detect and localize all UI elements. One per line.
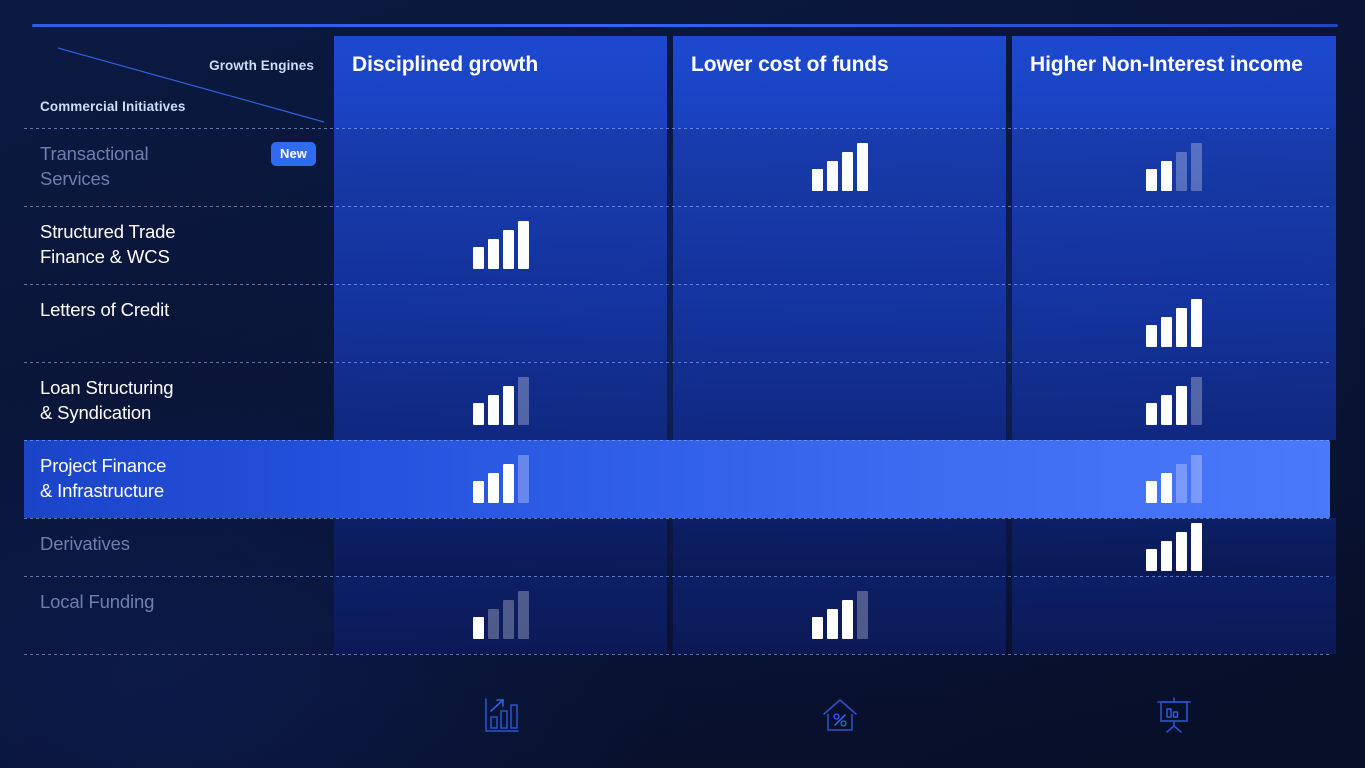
rating-bar bbox=[488, 239, 499, 269]
rating-bar bbox=[1191, 377, 1202, 425]
row-label-text: Structured Trade Finance & WCS bbox=[40, 220, 175, 269]
matrix-axis-corner: Growth Engines Commercial Initiatives bbox=[24, 36, 328, 128]
rating-bar bbox=[1176, 386, 1187, 425]
matrix-cell-derivatives-disciplined-growth[interactable] bbox=[334, 518, 667, 576]
matrix-cell-derivatives-lower-cost-of-funds[interactable] bbox=[673, 518, 1006, 576]
rating-bar bbox=[1191, 455, 1202, 503]
row-separator bbox=[24, 654, 1330, 655]
footer-icon-cell-higher-non-interest-income bbox=[1012, 684, 1336, 746]
rating-bar bbox=[857, 591, 868, 639]
matrix-cell-loan-structuring-syndication-disciplined-growth[interactable] bbox=[334, 362, 667, 440]
matrix-cell-project-finance-infrastructure-lower-cost-of-funds[interactable] bbox=[673, 440, 1006, 518]
rating-bar bbox=[1161, 473, 1172, 503]
rating-bar bbox=[473, 617, 484, 639]
matrix-cell-local-funding-higher-non-interest-income[interactable] bbox=[1012, 576, 1336, 654]
top-accent-rule bbox=[32, 24, 1338, 27]
new-badge: New bbox=[271, 142, 316, 166]
matrix-cell-transactional-services-lower-cost-of-funds[interactable] bbox=[673, 128, 1006, 206]
rating-bar bbox=[1146, 325, 1157, 347]
rating-bar bbox=[857, 143, 868, 191]
slide-canvas: Growth Engines Commercial Initiatives Di… bbox=[0, 0, 1365, 768]
matrix-cell-loan-structuring-syndication-lower-cost-of-funds[interactable] bbox=[673, 362, 1006, 440]
rating-bar bbox=[1146, 403, 1157, 425]
rating-bars bbox=[1146, 377, 1202, 425]
presentation-chart-icon bbox=[1154, 695, 1194, 735]
matrix-cell-local-funding-disciplined-growth[interactable] bbox=[334, 576, 667, 654]
house-percent-icon bbox=[820, 695, 860, 735]
row-label-text: Loan Structuring & Syndication bbox=[40, 376, 173, 425]
row-label-loan-structuring-syndication[interactable]: Loan Structuring & Syndication bbox=[24, 362, 328, 440]
matrix-cell-project-finance-infrastructure-higher-non-interest-income[interactable] bbox=[1012, 440, 1336, 518]
row-label-derivatives[interactable]: Derivatives bbox=[24, 518, 328, 576]
footer-icon-strip bbox=[24, 684, 1330, 746]
column-header-disciplined-growth[interactable]: Disciplined growth bbox=[334, 36, 667, 128]
row-label-text: Derivatives bbox=[40, 532, 130, 557]
footer-icon-cell-disciplined-growth bbox=[334, 684, 667, 746]
rating-bar bbox=[473, 247, 484, 269]
rating-bars bbox=[473, 455, 529, 503]
growth-chart-arrow-icon bbox=[481, 695, 521, 735]
rating-bar bbox=[1191, 299, 1202, 347]
matrix-cell-letters-of-credit-higher-non-interest-income[interactable] bbox=[1012, 284, 1336, 362]
rating-bar bbox=[473, 481, 484, 503]
rating-bar bbox=[1146, 169, 1157, 191]
row-label-letters-of-credit[interactable]: Letters of Credit bbox=[24, 284, 328, 362]
row-label-text: Letters of Credit bbox=[40, 298, 169, 323]
rating-bar bbox=[827, 161, 838, 191]
matrix-cell-structured-trade-finance-wcs-higher-non-interest-income[interactable] bbox=[1012, 206, 1336, 284]
rating-bars bbox=[473, 591, 529, 639]
rating-bar bbox=[518, 455, 529, 503]
rating-bar bbox=[518, 221, 529, 269]
row-label-transactional-services[interactable]: Transactional ServicesNew bbox=[24, 128, 328, 206]
rating-bars bbox=[1146, 455, 1202, 503]
rating-bar bbox=[518, 377, 529, 425]
rating-bar bbox=[1146, 549, 1157, 571]
row-label-structured-trade-finance-wcs[interactable]: Structured Trade Finance & WCS bbox=[24, 206, 328, 284]
rating-bar bbox=[812, 169, 823, 191]
rating-bar bbox=[518, 591, 529, 639]
footer-icon-cell-lower-cost-of-funds bbox=[673, 684, 1006, 746]
matrix-cell-loan-structuring-syndication-higher-non-interest-income[interactable] bbox=[1012, 362, 1336, 440]
row-label-text: Local Funding bbox=[40, 590, 154, 615]
rating-bar bbox=[488, 473, 499, 503]
rating-bar bbox=[473, 403, 484, 425]
rating-bar bbox=[503, 230, 514, 269]
rating-bar bbox=[1176, 464, 1187, 503]
column-header-higher-non-interest-income[interactable]: Higher Non-Interest income bbox=[1012, 36, 1336, 128]
row-label-project-finance-infrastructure[interactable]: Project Finance & Infrastructure bbox=[24, 440, 328, 518]
rating-bar bbox=[812, 617, 823, 639]
matrix-cell-structured-trade-finance-wcs-lower-cost-of-funds[interactable] bbox=[673, 206, 1006, 284]
matrix-cell-transactional-services-higher-non-interest-income[interactable] bbox=[1012, 128, 1336, 206]
rating-bar bbox=[1191, 523, 1202, 571]
matrix-cell-letters-of-credit-disciplined-growth[interactable] bbox=[334, 284, 667, 362]
rating-bar bbox=[1191, 143, 1202, 191]
rating-bars bbox=[1146, 523, 1202, 571]
rating-bars bbox=[812, 143, 868, 191]
rating-bar bbox=[503, 600, 514, 639]
rating-bar bbox=[842, 600, 853, 639]
rating-bar bbox=[1161, 541, 1172, 571]
rating-bars bbox=[1146, 299, 1202, 347]
growth-engines-matrix: Growth Engines Commercial Initiatives Di… bbox=[24, 36, 1330, 676]
matrix-cell-transactional-services-disciplined-growth[interactable] bbox=[334, 128, 667, 206]
rating-bar bbox=[503, 386, 514, 425]
row-label-text: Transactional Services bbox=[40, 142, 148, 191]
matrix-cell-local-funding-lower-cost-of-funds[interactable] bbox=[673, 576, 1006, 654]
rating-bar bbox=[1176, 532, 1187, 571]
rating-bars bbox=[1146, 143, 1202, 191]
rating-bar bbox=[1176, 308, 1187, 347]
column-header-lower-cost-of-funds[interactable]: Lower cost of funds bbox=[673, 36, 1006, 128]
matrix-cell-derivatives-higher-non-interest-income[interactable] bbox=[1012, 518, 1336, 576]
rating-bars bbox=[473, 221, 529, 269]
diagonal-divider-icon bbox=[24, 36, 328, 128]
rating-bar bbox=[488, 395, 499, 425]
rating-bar bbox=[1161, 161, 1172, 191]
matrix-cell-structured-trade-finance-wcs-disciplined-growth[interactable] bbox=[334, 206, 667, 284]
rating-bar bbox=[842, 152, 853, 191]
rating-bar bbox=[1161, 317, 1172, 347]
axis-label-rows: Commercial Initiatives bbox=[40, 99, 186, 114]
rating-bar bbox=[488, 609, 499, 639]
rating-bars bbox=[473, 377, 529, 425]
rating-bar bbox=[827, 609, 838, 639]
row-label-text: Project Finance & Infrastructure bbox=[40, 454, 166, 503]
rating-bar bbox=[1161, 395, 1172, 425]
row-label-local-funding[interactable]: Local Funding bbox=[24, 576, 328, 654]
rating-bar bbox=[1176, 152, 1187, 191]
matrix-cell-letters-of-credit-lower-cost-of-funds[interactable] bbox=[673, 284, 1006, 362]
rating-bars bbox=[812, 591, 868, 639]
matrix-cell-project-finance-infrastructure-disciplined-growth[interactable] bbox=[334, 440, 667, 518]
rating-bar bbox=[1146, 481, 1157, 503]
rating-bar bbox=[503, 464, 514, 503]
axis-label-columns: Growth Engines bbox=[209, 58, 314, 73]
